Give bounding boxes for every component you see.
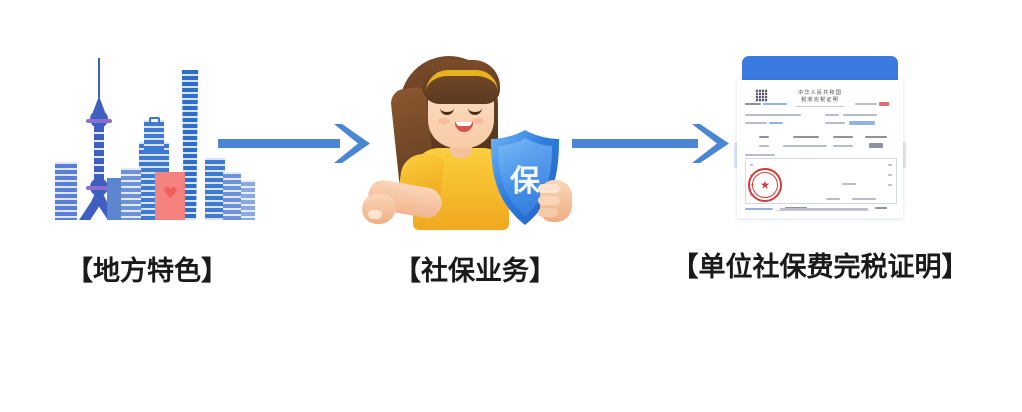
character-finger-3 [538,208,558,217]
character-hand-resting [362,194,396,224]
certificate-footer-line-4 [780,208,868,210]
stage-social-insurance-business: 保 【社保业务】 [355,42,595,285]
certificate-info-row-1a [745,114,801,116]
certificate-col-head-3 [833,136,853,138]
character-finger-1 [538,184,560,193]
seal-inner-ring [752,172,778,198]
certificate-meta-line-4 [879,102,889,106]
certificate-footer-line-1 [842,183,856,185]
heart-icon [164,186,177,198]
certificate-meta-line-1 [745,103,761,105]
certificate-info-row-2b [769,122,783,124]
caption-social-insurance-business: 【社保业务】 [394,258,556,285]
certificate-body-mark-r3 [888,184,892,186]
caption-local-characteristics: 【地方特色】 [66,258,228,285]
shield-character-bao: 保 [510,164,541,199]
skyline-building-pink-heart [155,172,185,220]
certificate-total-rule [777,210,869,211]
character-thumb [368,210,382,219]
certificate-data-cell-4 [869,143,883,148]
tax-payment-certificate-document: 中华人民共和国 税收完税证明 [734,50,906,222]
certificate-col-head-2 [793,136,819,138]
certificate-info-row-1c [843,114,877,116]
pearl-tower-top-cone [93,96,105,112]
certificate-info-row-1b [825,114,839,116]
certificate-title-line-1: 中华人民共和国 [737,90,903,97]
certificate-total-unit [875,207,887,209]
stage-local-characteristics: 【地方特色】 [22,58,272,285]
certificate-footer-line-2 [826,198,840,200]
flow-arrow-1 [218,118,378,170]
skyline-building-r2 [223,172,241,220]
certificate-info-row-2c [825,122,845,124]
caption-employer-social-insurance-tax-certificate: 【单位社保费完税证明】 [672,254,969,281]
certificate-data-cell-2 [783,145,827,147]
certificate-meta-line-3 [855,103,877,105]
character-teeth [456,122,472,126]
process-flow-diagram: 【地方特色】 [0,0,1022,412]
certificate-info-row-2a [745,122,767,124]
certificate-col-head-1 [759,136,769,138]
pearl-tower-shaft [94,124,104,180]
certificate-total-label [745,208,773,210]
pearl-tower-ring-upper [86,119,112,123]
character-blush-right [472,118,484,124]
character-blush-left [438,118,450,124]
certificate-meta-line-2 [763,103,787,105]
certificate-footer-line-3 [852,198,876,200]
skyline-building-r3 [241,180,255,220]
pearl-tower-antenna [98,58,100,98]
certificate-data-cell-1 [759,145,769,147]
character-finger-2 [538,196,560,205]
certificate-official-seal [748,168,782,202]
certificate-info-row-2d [849,121,875,125]
skyline-building-m1 [121,168,141,220]
stage-tax-payment-certificate: 中华人民共和国 税收完税证明 [640,50,1000,281]
certificate-body-mark-r1 [888,164,892,166]
certificate-title-rule [795,106,845,107]
shanghai-skyline-illustration [47,58,247,220]
skyline-building-left-block [55,162,77,220]
certificate-data-cell-3 [833,145,853,147]
arrow-right-icon [218,124,370,163]
woman-holding-insurance-shield: 保 [360,42,590,222]
certificate-body-mark-l1 [750,164,753,166]
certificate-body-mark-r2 [888,174,892,176]
certificate-col-head-4 [865,136,887,138]
character-headband [426,70,498,92]
certificate-subtotal-line [745,154,775,156]
